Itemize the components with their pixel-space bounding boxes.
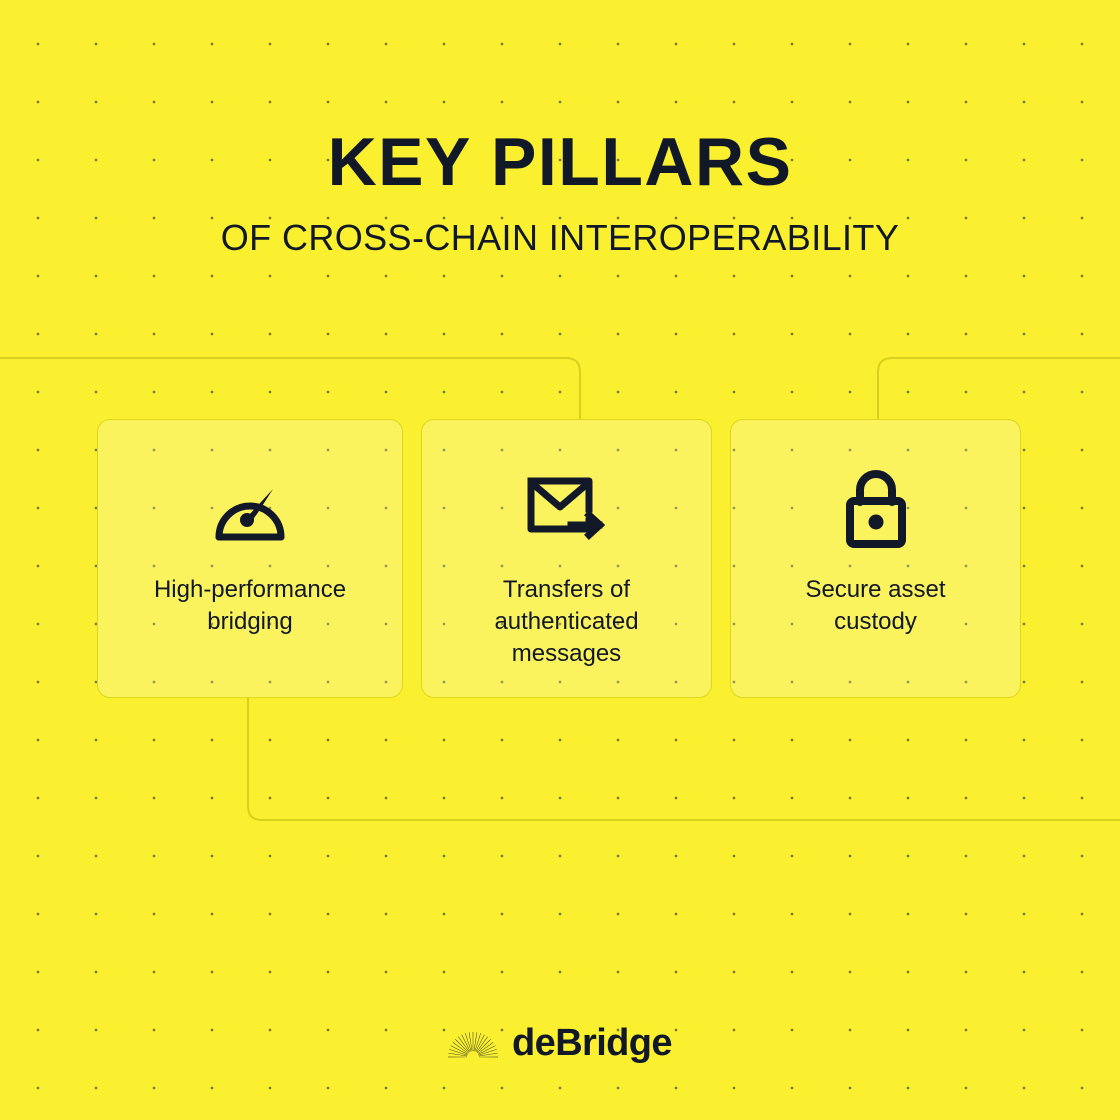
speedometer-icon: [211, 466, 289, 552]
connector-top-left: [0, 358, 580, 420]
header: KEY PILLARS OF CROSS-CHAIN INTEROPERABIL…: [0, 128, 1120, 257]
brand-footer: deBridge: [0, 1024, 1120, 1062]
lock-icon: [843, 466, 909, 552]
connector-bottom: [248, 698, 1120, 820]
envelope-arrow-icon: [527, 466, 607, 552]
connector-top-right: [878, 358, 1120, 420]
pillar-card-secure-asset-custody[interactable]: Secure asset custody: [730, 419, 1021, 698]
pillar-card-list: High-performance bridging: [97, 419, 1021, 698]
infographic-canvas: KEY PILLARS OF CROSS-CHAIN INTEROPERABIL…: [0, 0, 1120, 1120]
page-title: KEY PILLARS: [0, 128, 1120, 197]
debridge-fan-icon: [448, 1026, 498, 1060]
pillar-card-high-performance-bridging[interactable]: High-performance bridging: [97, 419, 403, 698]
page-subtitle: OF CROSS-CHAIN INTEROPERABILITY: [0, 219, 1120, 257]
pillar-card-label: Secure asset custody: [789, 574, 961, 638]
pillar-card-authenticated-messages[interactable]: Transfers of authenticated messages: [421, 419, 712, 698]
pillar-card-label: Transfers of authenticated messages: [478, 574, 654, 670]
pillar-card-label: High-performance bridging: [138, 574, 362, 638]
brand-name: deBridge: [512, 1024, 672, 1062]
